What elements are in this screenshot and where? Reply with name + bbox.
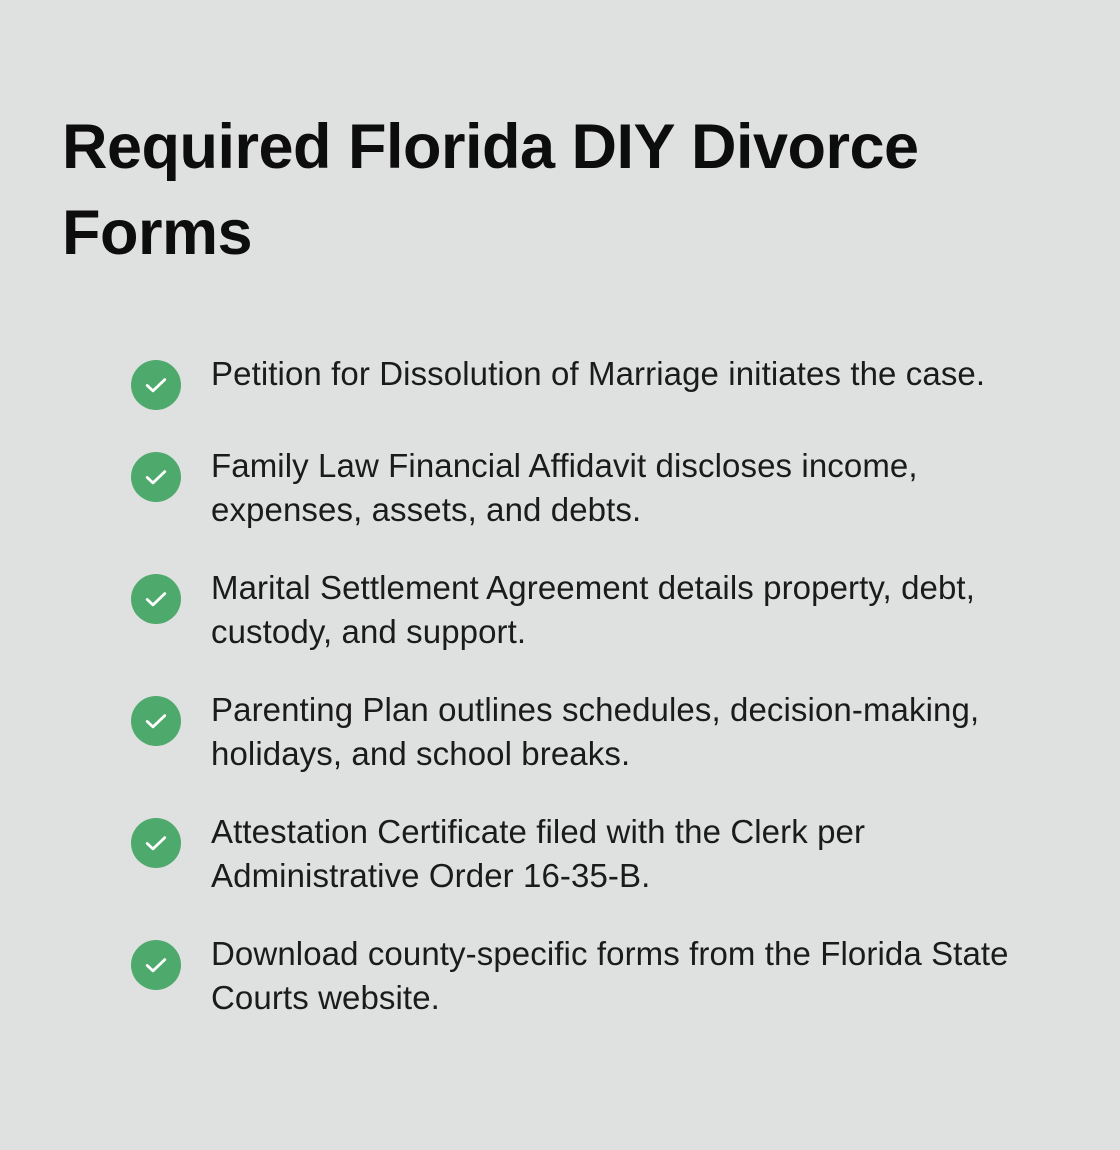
check-circle-icon	[131, 452, 181, 502]
page-title: Required Florida DIY Divorce Forms	[62, 104, 1022, 276]
check-circle-icon	[131, 940, 181, 990]
list-item-label: Parenting Plan outlines schedules, decis…	[211, 688, 1026, 776]
list-item-label: Download county-specific forms from the …	[211, 932, 1026, 1020]
list-item-label: Family Law Financial Affidavit discloses…	[211, 444, 1026, 532]
check-circle-icon	[131, 574, 181, 624]
list-item: Download county-specific forms from the …	[131, 932, 1036, 1020]
list-item: Attestation Certificate filed with the C…	[131, 810, 1036, 898]
list-item-label: Petition for Dissolution of Marriage ini…	[211, 352, 1026, 396]
list-item: Family Law Financial Affidavit discloses…	[131, 444, 1036, 532]
check-circle-icon	[131, 360, 181, 410]
list-item: Marital Settlement Agreement details pro…	[131, 566, 1036, 654]
list-item-label: Marital Settlement Agreement details pro…	[211, 566, 1026, 654]
list-item: Petition for Dissolution of Marriage ini…	[131, 352, 1036, 410]
infographic-card: Required Florida DIY Divorce Forms Petit…	[0, 0, 1120, 1150]
check-circle-icon	[131, 818, 181, 868]
list-item: Parenting Plan outlines schedules, decis…	[131, 688, 1036, 776]
checklist: Petition for Dissolution of Marriage ini…	[131, 352, 1036, 1020]
list-item-label: Attestation Certificate filed with the C…	[211, 810, 1026, 898]
check-circle-icon	[131, 696, 181, 746]
